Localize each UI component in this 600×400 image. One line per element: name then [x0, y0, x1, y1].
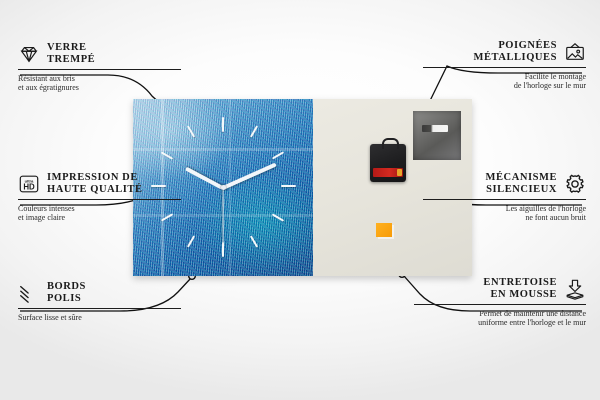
wall-hanger-icon — [564, 41, 586, 63]
feature-subtitle-line2: uniforme entre l'horloge et le mur — [414, 318, 586, 328]
clock-mechanism — [370, 144, 406, 182]
feature-title-line1: BORDS — [47, 281, 86, 293]
clock-second-hand — [222, 188, 223, 244]
feature-subtitle-line2: ne font aucun bruit — [423, 213, 586, 223]
divider — [423, 199, 586, 200]
divider — [18, 69, 181, 70]
ultra-hd-icon-large-text: HD — [23, 183, 35, 192]
feature-title-line2: POLIS — [47, 293, 86, 305]
feature-title-line1: MÉCANISME — [486, 172, 557, 184]
clock-tick — [250, 235, 258, 247]
clock-tick — [222, 117, 224, 132]
feature-title-line1: ENTRETOISE — [483, 277, 557, 289]
feature-poignees-metalliques: POIGNÉES MÉTALLIQUES Facilite le montage… — [423, 40, 586, 91]
polished-edges-icon — [18, 282, 40, 304]
clock-tick — [272, 213, 284, 221]
battery-terminal — [397, 169, 402, 176]
divider — [18, 308, 181, 309]
feature-subtitle-line2: et aux égratignures — [18, 83, 181, 93]
metal-hanger-plate — [413, 111, 461, 160]
feature-title-line2: MÉTALLIQUES — [474, 52, 557, 64]
clock-hour-hand — [185, 167, 224, 190]
clock-tick — [272, 151, 284, 159]
ultra-hd-icon: ultra HD — [18, 173, 40, 195]
clock-tick — [187, 235, 195, 247]
feature-subtitle-line2: de l'horloge sur le mur — [423, 81, 586, 91]
clock-minute-hand — [222, 163, 277, 190]
feature-entretoise-en-mousse: ENTRETOISE EN MOUSSE Permet de maintenir… — [414, 277, 586, 328]
clock-hand-hub — [221, 185, 226, 190]
feature-title-line2: SILENCIEUX — [486, 184, 557, 196]
feature-subtitle-line1: Facilite le montage — [423, 72, 586, 82]
product-photo — [133, 99, 472, 276]
feature-title-line1: POIGNÉES — [474, 40, 557, 52]
divider — [18, 199, 181, 200]
divider — [423, 67, 586, 68]
feature-mecanisme-silencieux: MÉCANISME SILENCIEUX Les aiguilles de l'… — [423, 172, 586, 223]
feature-title-line1: VERRE — [47, 42, 95, 54]
feature-title-line1: IMPRESSION DE — [47, 172, 143, 184]
diamond-icon — [18, 43, 40, 65]
foam-spacer-icon — [564, 278, 586, 300]
feature-subtitle-line1: Permet de maintenir une distance — [414, 309, 586, 319]
foam-spacer — [376, 223, 392, 237]
feature-subtitle-line1: Les aiguilles de l'horloge — [423, 204, 586, 214]
hanger-slot — [422, 125, 448, 132]
mechanism-hanging-loop — [382, 138, 399, 149]
clock-tick — [187, 125, 195, 137]
clock-tick — [250, 125, 258, 137]
clock-tick — [161, 151, 173, 159]
feature-impression-hd: ultra HD IMPRESSION DE HAUTE QUALITÉ Cou… — [18, 172, 181, 223]
feature-title-line2: EN MOUSSE — [483, 289, 557, 301]
divider — [414, 304, 586, 305]
clock-tick — [281, 185, 296, 187]
feature-verre-trempe: VERRE TREMPÉ Résistant aux bris et aux é… — [18, 42, 181, 93]
feature-subtitle-line1: Couleurs intenses — [18, 204, 181, 214]
gear-icon — [564, 173, 586, 195]
feature-title-line2: TREMPÉ — [47, 54, 95, 66]
feature-title-line2: HAUTE QUALITÉ — [47, 184, 143, 196]
feature-bords-polis: BORDS POLIS Surface lisse et sûre — [18, 281, 181, 322]
feature-subtitle-line1: Résistant aux bris — [18, 74, 181, 84]
infographic-canvas: VERRE TREMPÉ Résistant aux bris et aux é… — [0, 0, 600, 400]
feature-subtitle-line1: Surface lisse et sûre — [18, 313, 181, 323]
clock-tick — [222, 242, 224, 257]
feature-subtitle-line2: et image claire — [18, 213, 181, 223]
